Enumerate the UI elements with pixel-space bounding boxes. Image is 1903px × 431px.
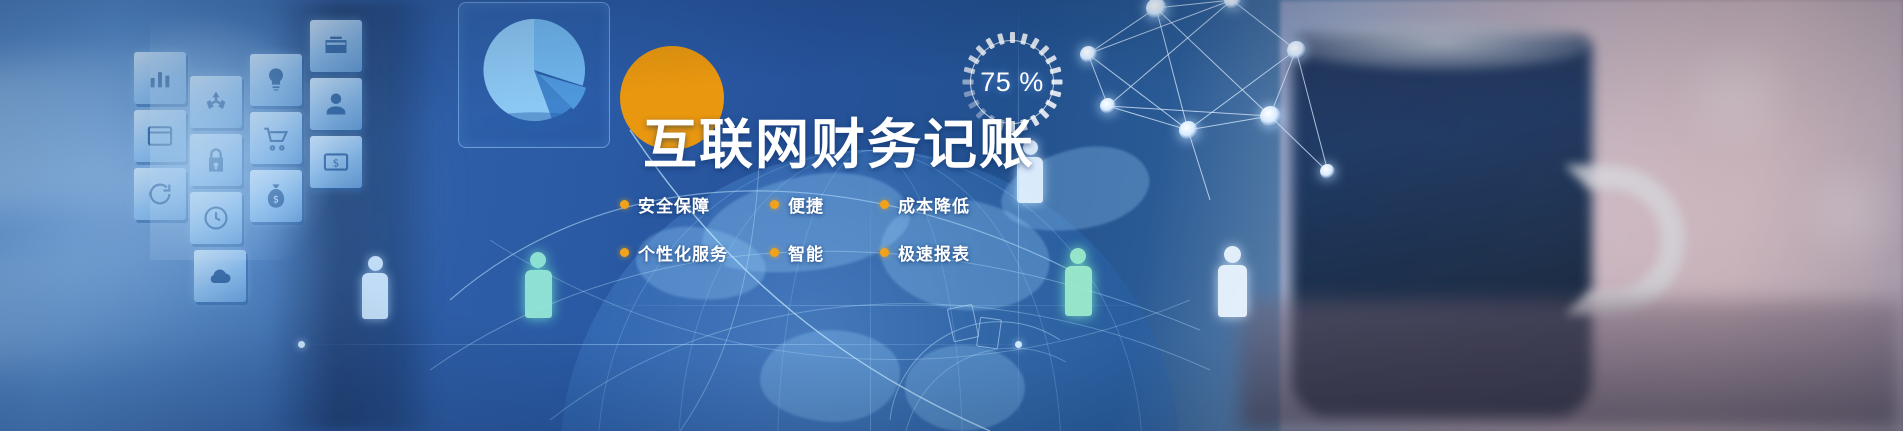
banner-root: $ $ [0, 0, 1903, 431]
vignette-overlay [0, 0, 1903, 431]
